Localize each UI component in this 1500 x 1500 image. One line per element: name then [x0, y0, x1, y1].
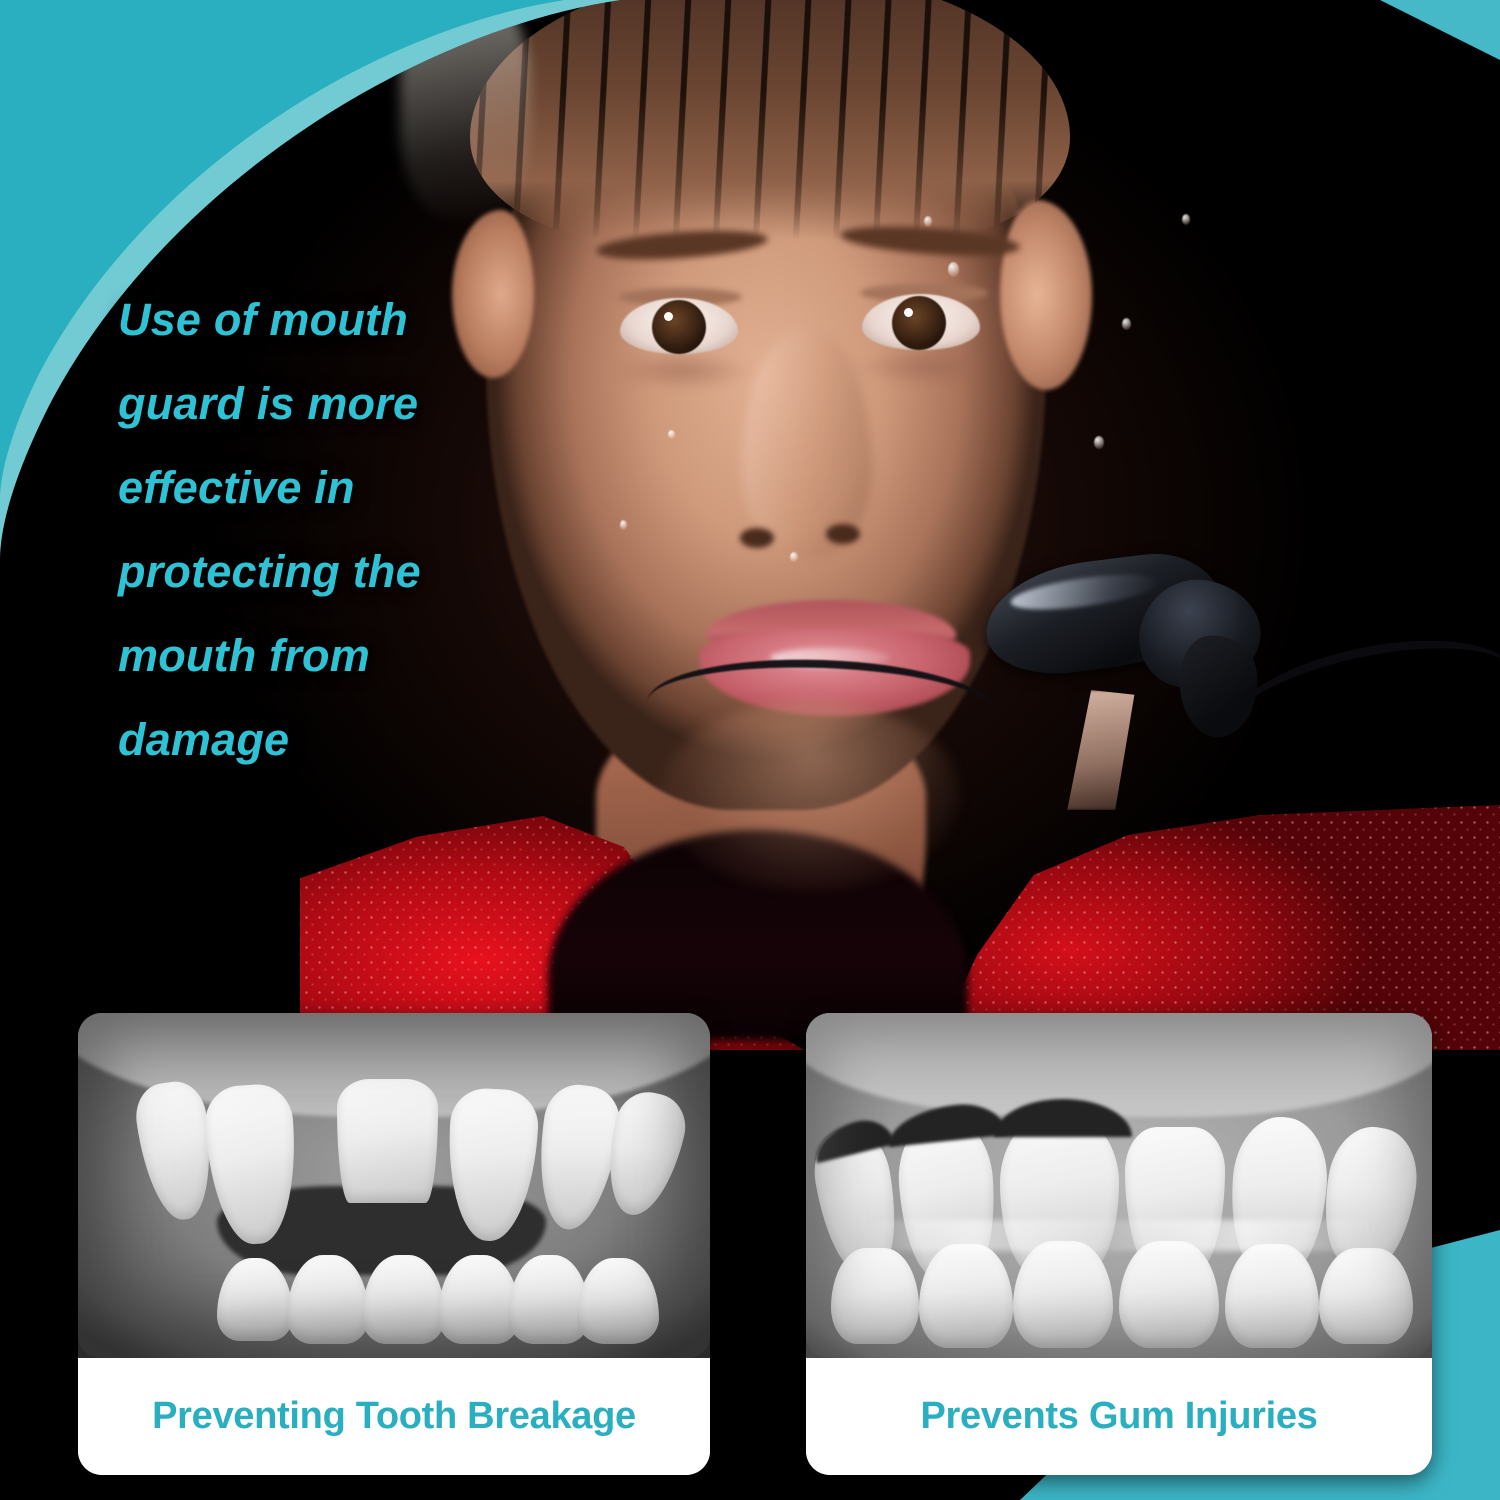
sweat-drop — [620, 520, 627, 530]
headline: Use of mouth guard is more effective in … — [118, 278, 478, 782]
sweat-drop — [790, 552, 798, 562]
product-infographic-poster: Use of mouth guard is more effective in … — [0, 0, 1500, 1500]
benefit-card-gum-injuries[interactable]: Prevents Gum Injuries — [806, 1013, 1432, 1475]
hair-strands — [470, 0, 1070, 240]
sweat-drop — [1122, 318, 1131, 330]
eye-highlight-right — [904, 308, 913, 317]
broken-tooth-photo — [78, 1013, 710, 1358]
benefit-caption-text: Prevents Gum Injuries — [920, 1395, 1317, 1438]
nostril-right — [826, 524, 860, 544]
gum-injury-photo — [806, 1013, 1432, 1358]
photo-vignette — [78, 1013, 710, 1358]
sweat-drop — [948, 262, 959, 277]
photo-vignette — [806, 1013, 1432, 1358]
headline-line: effective in — [118, 446, 478, 530]
headline-line: guard is more — [118, 362, 478, 446]
headline-line: damage — [118, 698, 478, 782]
benefit-image-tooth-breakage — [78, 1013, 710, 1358]
headline-line: protecting the — [118, 530, 478, 614]
wet-hair — [470, 0, 1070, 240]
benefit-caption-text: Preventing Tooth Breakage — [152, 1395, 636, 1438]
hair-highlight — [400, 0, 530, 220]
under-eye-right — [856, 348, 1000, 386]
benefit-caption-bar: Prevents Gum Injuries — [806, 1358, 1432, 1475]
benefit-image-gum-injuries — [806, 1013, 1432, 1358]
sweat-drop — [668, 430, 675, 439]
iris-left — [652, 300, 706, 354]
nostril-left — [740, 528, 774, 548]
sweat-drop — [1094, 436, 1104, 449]
sweat-drop — [1182, 214, 1190, 225]
headline-line: Use of mouth — [118, 278, 478, 362]
eye-highlight-left — [664, 312, 673, 321]
under-eye-left — [612, 352, 752, 390]
sweat-drop — [924, 216, 932, 227]
iris-right — [892, 296, 946, 350]
benefit-card-tooth-breakage[interactable]: Preventing Tooth Breakage — [78, 1013, 710, 1475]
benefit-caption-bar: Preventing Tooth Breakage — [78, 1358, 710, 1475]
headline-line: mouth from — [118, 614, 478, 698]
chin — [660, 700, 960, 890]
